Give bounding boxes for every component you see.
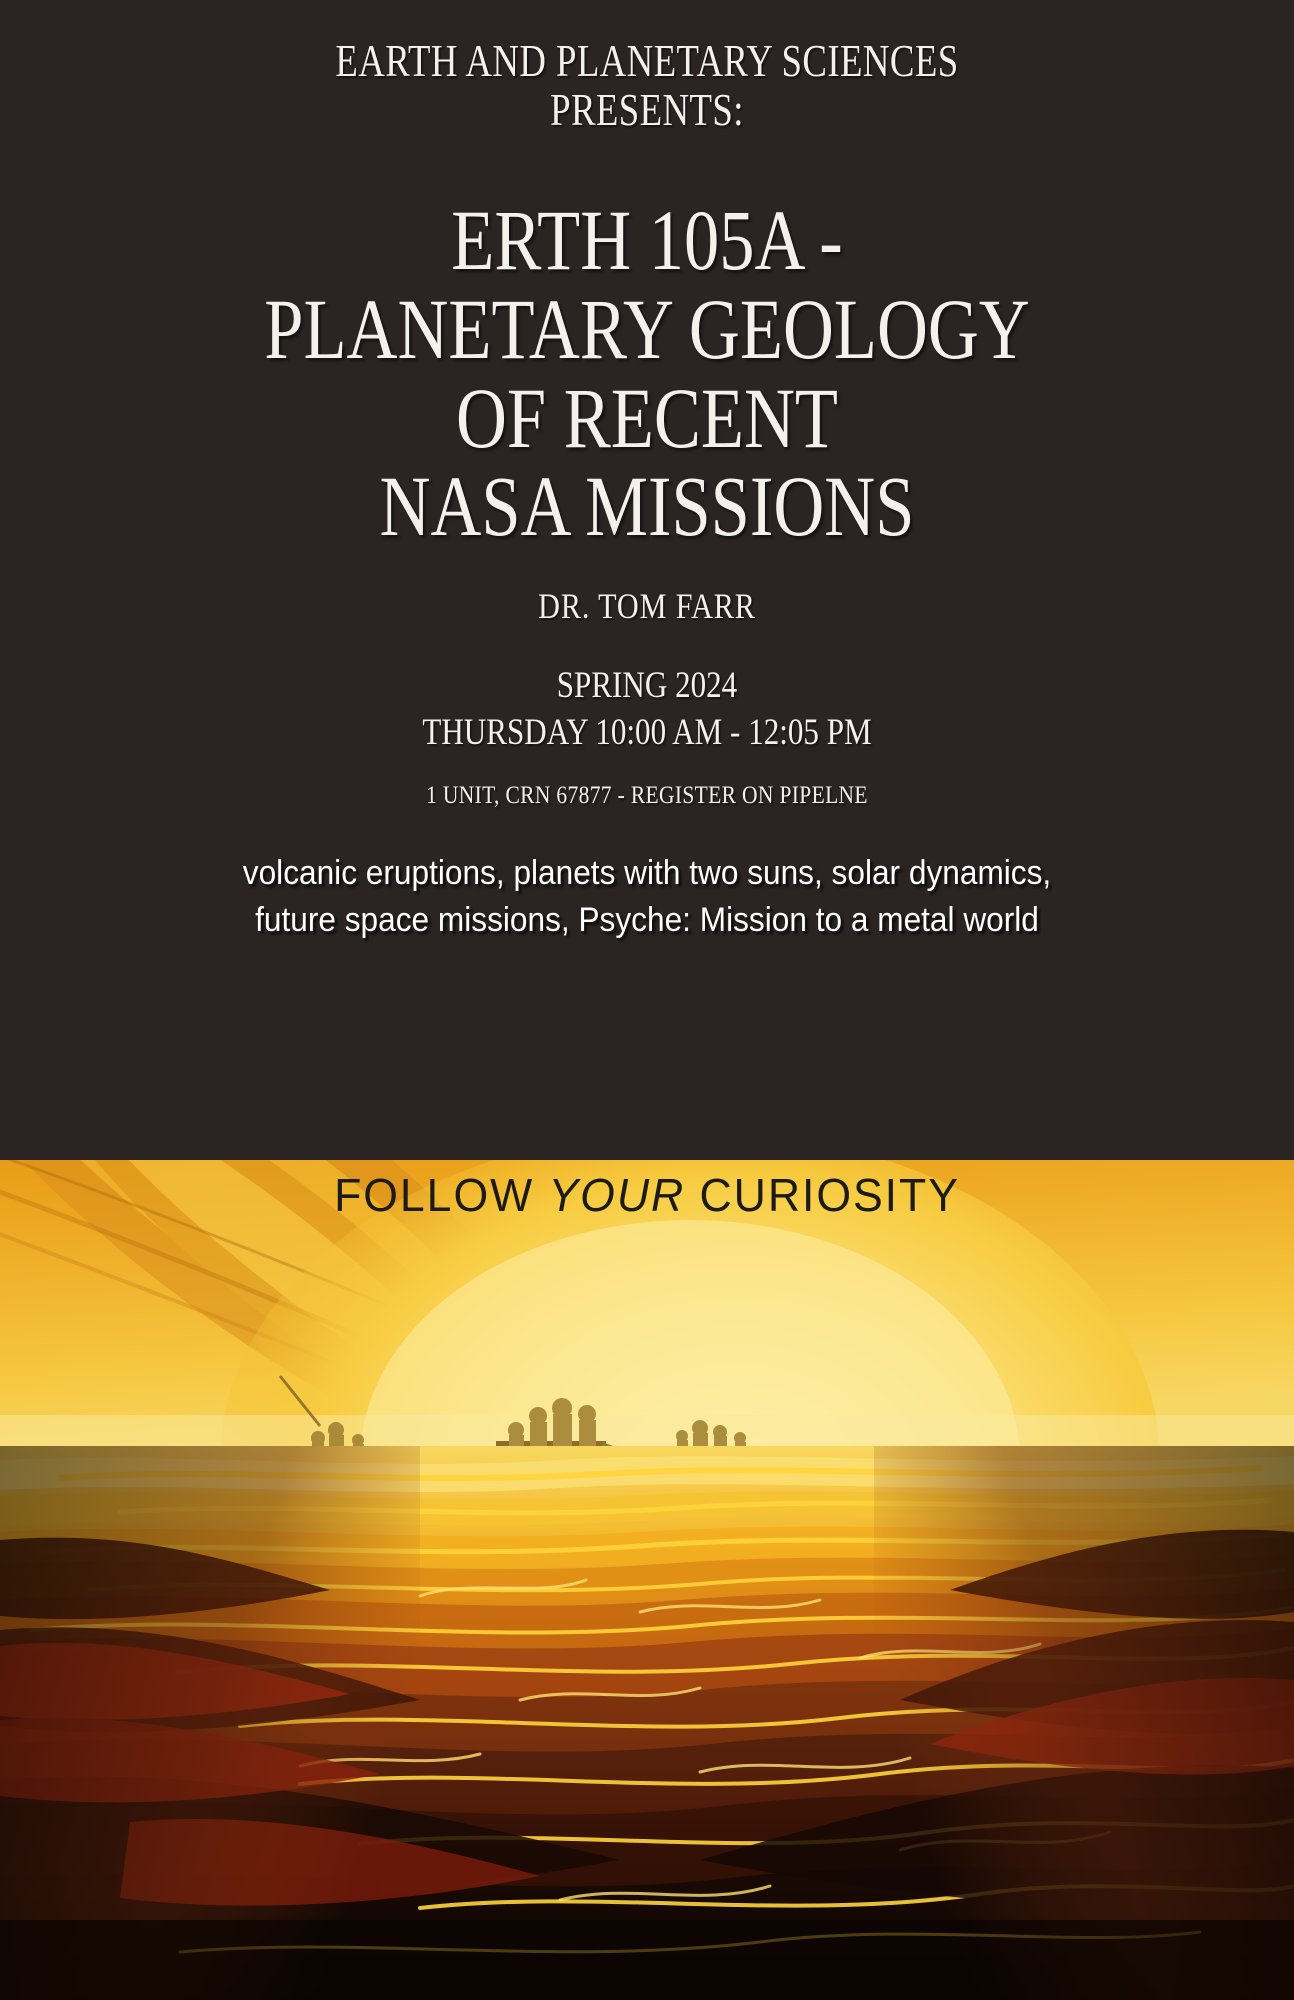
topics-line-1: volcanic eruptions, planets with two sun… [45, 850, 1248, 897]
page-title: ERTH 105A - PLANETARY GEOLOGY OF RECENT … [116, 196, 1177, 550]
tagline-prefix: FOLLOW [334, 1169, 548, 1221]
poster-root: FOLLOW YOUR CURIOSITY EARTH AND PLANETAR… [0, 0, 1294, 2000]
schedule-block: SPRING 2024 THURSDAY 10:00 AM - 12:05 PM [104, 662, 1191, 757]
title-line-4: NASA MISSIONS [116, 462, 1177, 551]
topics-line-2: future space missions, Psyche: Mission t… [45, 897, 1248, 944]
department-header: EARTH AND PLANETARY SCIENCES PRESENTS: [129, 0, 1164, 134]
molten-sea-layer [0, 1446, 1294, 2000]
department-name: EARTH AND PLANETARY SCIENCES [335, 35, 958, 86]
schedule-meeting-time: THURSDAY 10:00 AM - 12:05 PM [104, 709, 1191, 756]
schedule-term: SPRING 2024 [104, 662, 1191, 709]
title-line-1: ERTH 105A - [116, 196, 1177, 285]
tagline: FOLLOW YOUR CURIOSITY [19, 1168, 1274, 1222]
title-line-2: PLANETARY GEOLOGY [116, 285, 1177, 374]
topics-list: volcanic eruptions, planets with two sun… [45, 850, 1248, 944]
tagline-emphasis: YOUR [548, 1169, 685, 1221]
speaker-name: DR. TOM FARR [104, 585, 1191, 627]
title-line-3: OF RECENT [116, 374, 1177, 463]
presents-label: PRESENTS: [129, 85, 1164, 134]
artwork-illustration [0, 1160, 1294, 2000]
poster-text-panel: EARTH AND PLANETARY SCIENCES PRESENTS: E… [0, 0, 1294, 1160]
registration-info: 1 UNIT, CRN 67877 - REGISTER ON PIPELNE [91, 782, 1204, 810]
tagline-suffix: CURIOSITY [685, 1169, 960, 1221]
